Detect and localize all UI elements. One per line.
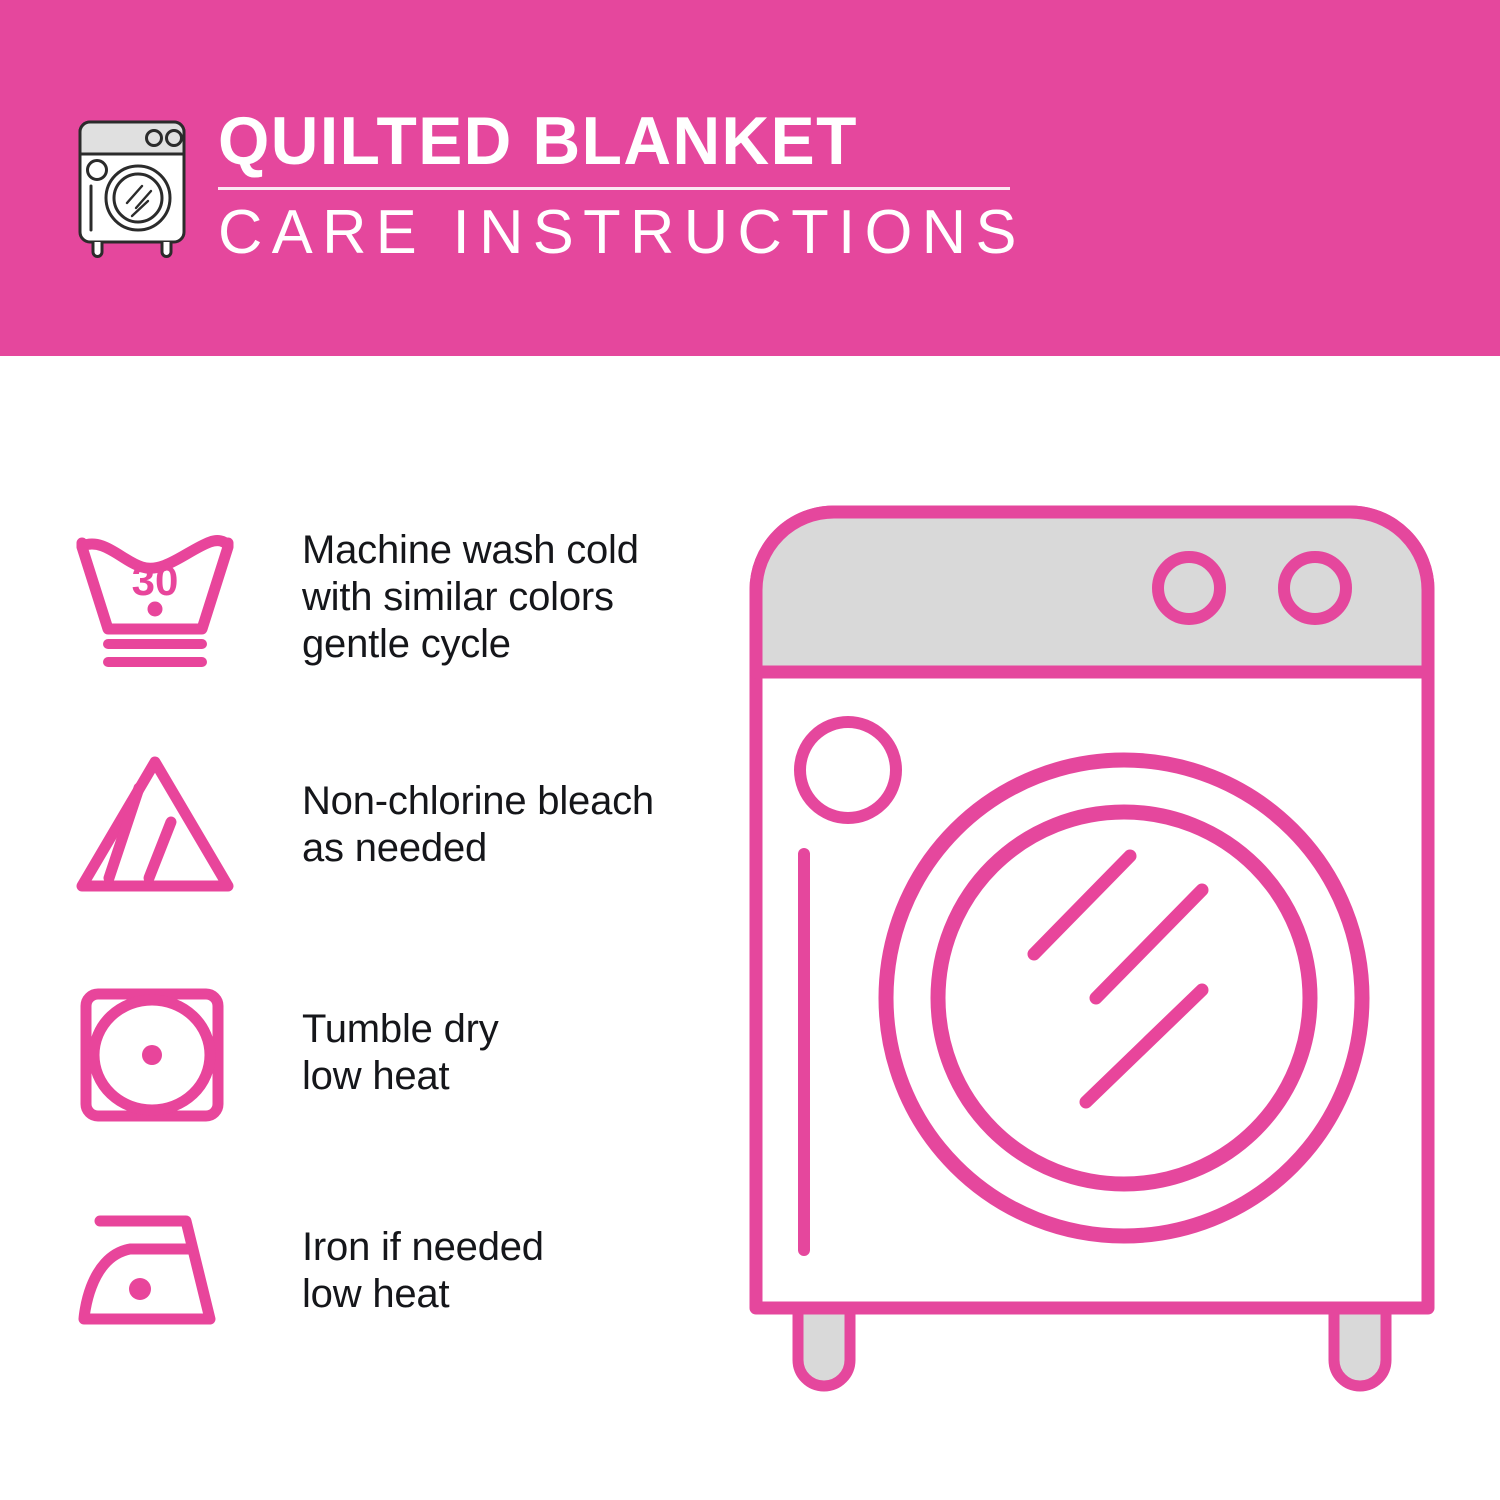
care-line: low heat: [302, 1271, 544, 1318]
knob-left: [1158, 557, 1220, 619]
washing-machine-icon: [62, 104, 202, 262]
care-line: gentle cycle: [302, 621, 639, 668]
wash-tub-30-icon: 30: [70, 512, 250, 682]
care-line: Tumble dry: [302, 1006, 499, 1053]
header-text-block: QUILTED BLANKET CARE INSTRUCTIONS: [218, 104, 1018, 272]
page-subtitle: CARE INSTRUCTIONS: [218, 200, 1010, 266]
page-title: QUILTED BLANKET: [218, 104, 994, 178]
care-item-bleach: Non-chlorine bleach as needed: [70, 740, 710, 910]
knob-right: [1284, 557, 1346, 619]
care-item-wash: 30 Machine wash cold with similar colors…: [70, 512, 710, 682]
header-banner: QUILTED BLANKET CARE INSTRUCTIONS: [0, 0, 1500, 356]
care-instructions-infographic: QUILTED BLANKET CARE INSTRUCTIONS 30 Mac…: [0, 0, 1500, 1500]
front-load-washing-machine-illustration: [742, 498, 1442, 1408]
care-item-wash-text: Machine wash cold with similar colors ge…: [302, 527, 639, 668]
care-line: with similar colors: [302, 574, 639, 621]
care-line: Iron if needed: [302, 1224, 544, 1271]
detergent-dispenser: [800, 722, 896, 818]
wash-temperature-label: 30: [132, 557, 179, 604]
care-item-iron: Iron if needed low heat: [70, 1186, 710, 1356]
care-item-bleach-text: Non-chlorine bleach as needed: [302, 778, 654, 872]
care-line: Non-chlorine bleach: [302, 778, 654, 825]
care-line: low heat: [302, 1053, 499, 1100]
care-line: as needed: [302, 825, 654, 872]
non-chlorine-bleach-triangle-icon: [70, 740, 250, 910]
care-item-tumble-dry-text: Tumble dry low heat: [302, 1006, 499, 1100]
care-line: Machine wash cold: [302, 527, 639, 574]
title-divider: [218, 187, 1010, 190]
iron-low-heat-icon: [70, 1186, 250, 1356]
care-item-tumble-dry: Tumble dry low heat: [70, 968, 710, 1138]
tumble-dry-low-icon: [70, 968, 250, 1138]
care-item-iron-text: Iron if needed low heat: [302, 1224, 544, 1318]
